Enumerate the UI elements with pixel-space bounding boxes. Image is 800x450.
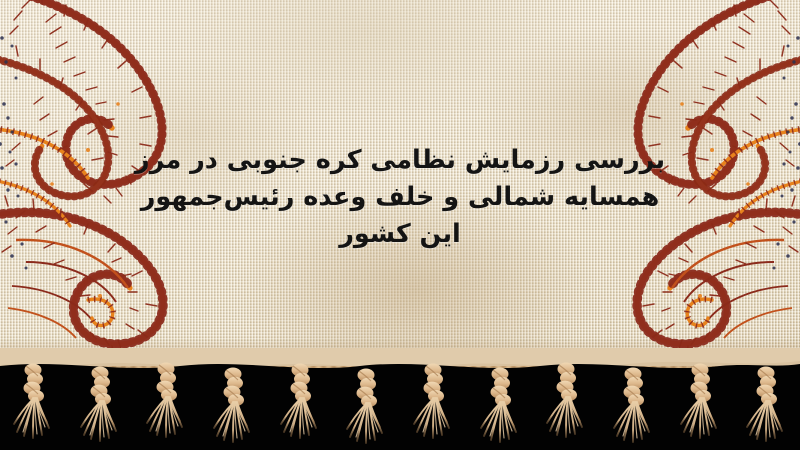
screenshot-root: بررسی رزمایش نظامی کره جنوبی در مرز همسا… (0, 0, 800, 450)
knotted-fringe (0, 348, 800, 450)
headline-text: بررسی رزمایش نظامی کره جنوبی در مرز همسا… (0, 142, 800, 253)
headline-line-2: همسایه شمالی و خلف وعده رئیس‌جمهور (0, 179, 800, 216)
headline-line-1: بررسی رزمایش نظامی کره جنوبی در مرز (0, 142, 800, 179)
headline-line-3: این کشور (0, 216, 800, 253)
